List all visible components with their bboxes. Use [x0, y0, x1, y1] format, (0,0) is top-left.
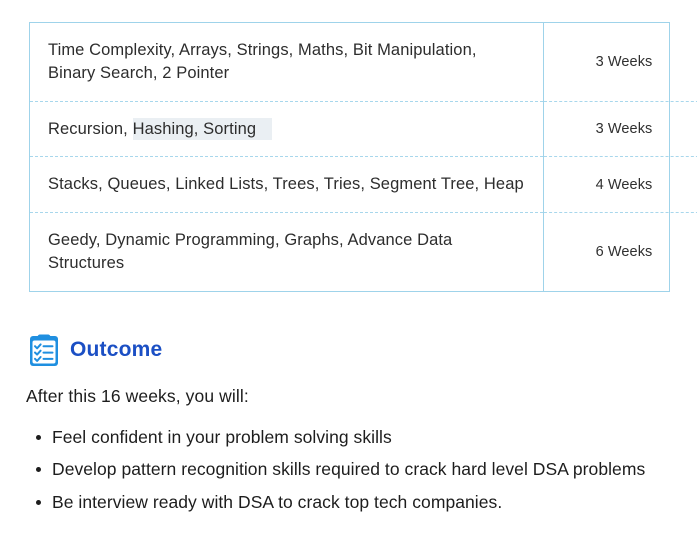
table-row: Geedy, Dynamic Programming, Graphs, Adva… — [30, 213, 697, 291]
table-cell-duration: 6 Weeks — [544, 213, 697, 291]
table-row: Stacks, Queues, Linked Lists, Trees, Tri… — [30, 157, 697, 213]
table-row: Recursion, Hashing, Sorting 3 Weeks — [30, 101, 697, 157]
table-cell-topics: Stacks, Queues, Linked Lists, Trees, Tri… — [30, 157, 544, 213]
outcome-bullet-list: Feel confident in your problem solving s… — [26, 425, 697, 522]
table-cell-topics: Recursion, Hashing, Sorting — [30, 101, 544, 157]
list-item: Develop pattern recognition skills requi… — [52, 457, 697, 482]
clipboard-checklist-icon — [29, 333, 59, 367]
topics-text-selected: Hashing, Sorting — [133, 118, 273, 140]
topics-text-prefix: Recursion, — [48, 120, 133, 138]
table-cell-topics: Geedy, Dynamic Programming, Graphs, Adva… — [30, 213, 544, 291]
table-row: Time Complexity, Arrays, Strings, Maths,… — [30, 23, 697, 101]
curriculum-table-container: Time Complexity, Arrays, Strings, Maths,… — [29, 22, 670, 292]
list-item: Be interview ready with DSA to crack top… — [52, 490, 697, 515]
curriculum-table: Time Complexity, Arrays, Strings, Maths,… — [30, 23, 697, 291]
table-cell-duration: 4 Weeks — [544, 157, 697, 213]
outcome-intro-text: After this 16 weeks, you will: — [26, 386, 249, 407]
table-cell-topics: Time Complexity, Arrays, Strings, Maths,… — [30, 23, 544, 101]
list-item: Feel confident in your problem solving s… — [52, 425, 697, 450]
outcome-title: Outcome — [70, 338, 162, 362]
outcome-heading: Outcome — [29, 333, 162, 367]
table-cell-duration: 3 Weeks — [544, 101, 697, 157]
table-cell-duration: 3 Weeks — [544, 23, 697, 101]
